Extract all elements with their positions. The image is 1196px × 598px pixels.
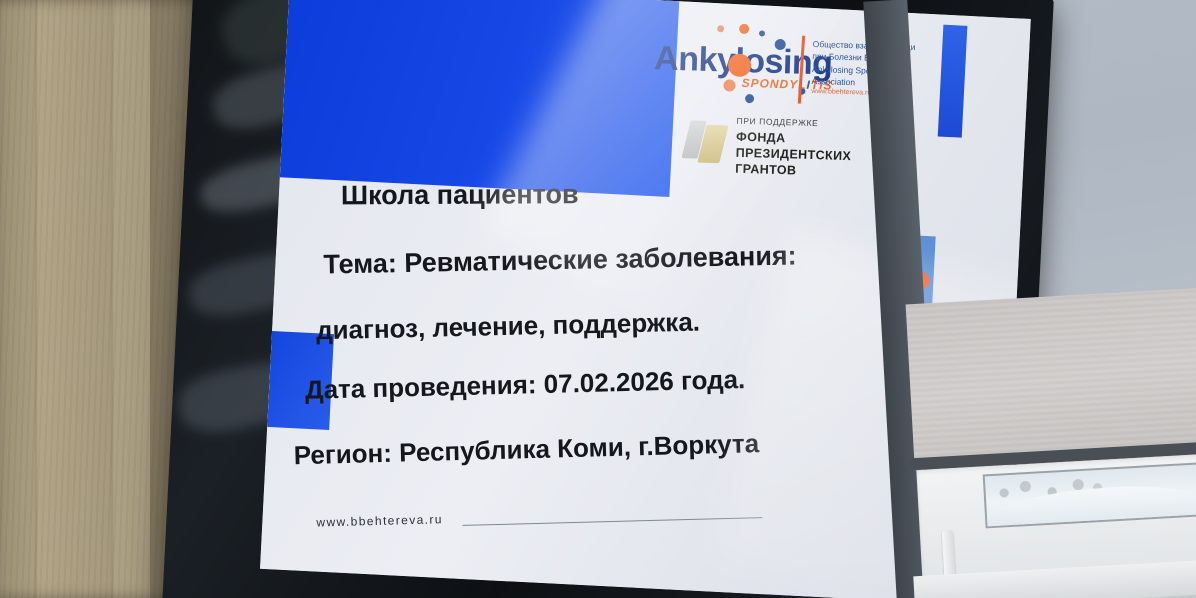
slide-region-line: Регион: Республика Коми, г.Воркута xyxy=(293,428,759,471)
slide-date-line: Дата проведения: 07.02.2026 года. xyxy=(305,364,746,406)
logo-bubble-icon xyxy=(717,25,724,32)
window-area xyxy=(924,300,1196,598)
slide-topic-line: Тема: Ревматические заболевания: xyxy=(323,240,797,280)
grants-support-label: ПРИ ПОДДЕРЖКЕ xyxy=(736,116,818,128)
grants-emblem-icon xyxy=(683,118,728,163)
roller-blind[interactable] xyxy=(906,288,1196,470)
room-scene: TCL AVerMedia xyxy=(0,0,1196,598)
window-glass xyxy=(983,462,1196,528)
logo-bubble-icon xyxy=(723,79,735,91)
logo-subtitle-main: SPONDYL xyxy=(741,76,806,92)
logo-bubble-icon xyxy=(745,94,754,103)
slide-blue-block xyxy=(280,0,679,197)
slide-title: Школа пациентов xyxy=(341,179,579,211)
slide-topic-line-2: диагноз, лечение, поддержка. xyxy=(316,307,701,347)
slide-footer-rule xyxy=(462,517,762,526)
slide-footer-url: www.bbehtereva.ru xyxy=(316,512,443,529)
logo-bubble-icon xyxy=(759,30,765,36)
grants-fund-name: ФОНДА ПРЕЗИДЕНТСКИХ ГРАНТОВ xyxy=(735,129,852,180)
logo-bubble-icon xyxy=(739,24,749,34)
ankylosing-logo: Ankylosing SPONDYLITIS Общество взаимопо… xyxy=(653,21,965,116)
